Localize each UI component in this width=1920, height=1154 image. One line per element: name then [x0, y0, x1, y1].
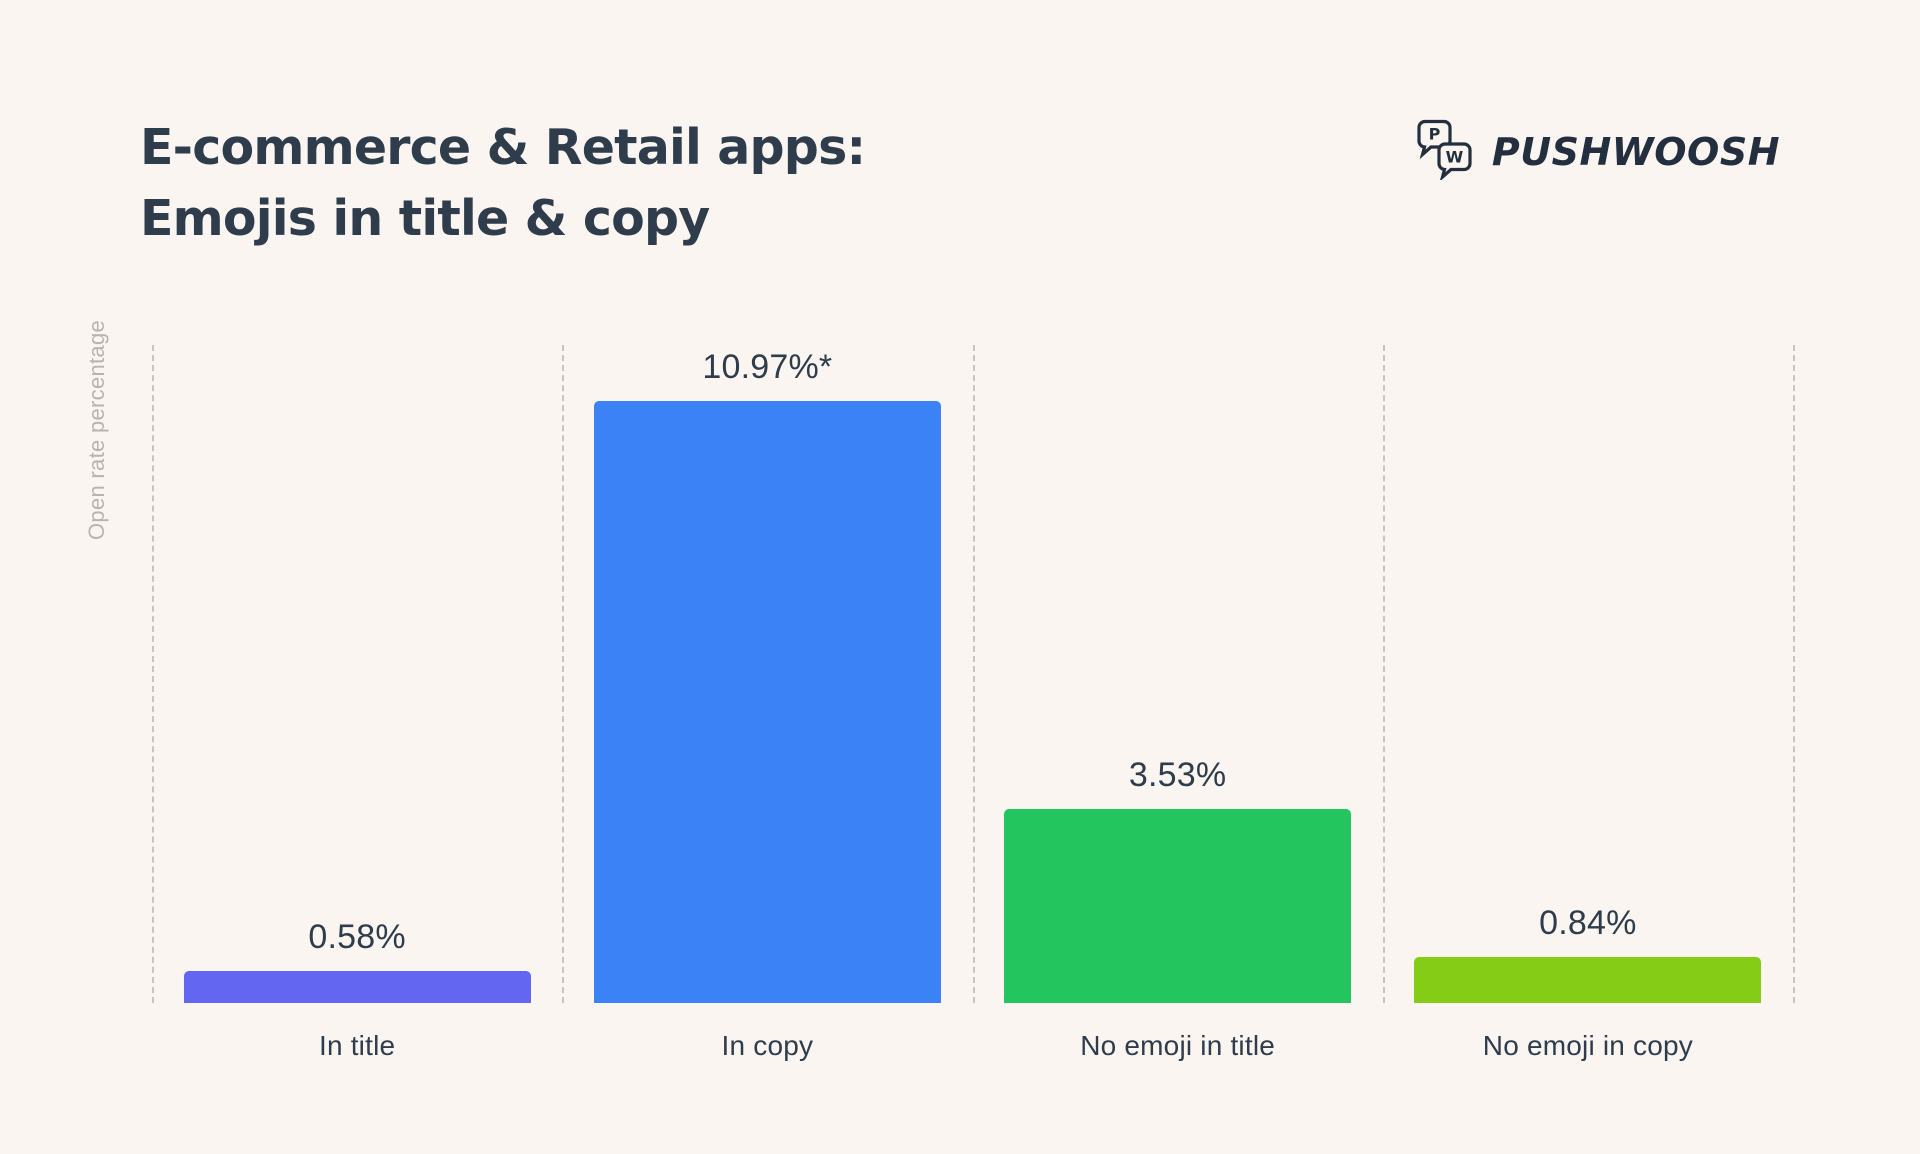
bar[interactable]: [1414, 957, 1761, 1003]
bar-chart: Open rate percentage 0.58%10.97%*3.53%0.…: [0, 0, 1920, 1154]
y-axis-label: Open rate percentage: [84, 500, 110, 540]
bar-value-label: 10.97%*: [594, 348, 941, 387]
chart-page: E-commerce & Retail apps: Emojis in titl…: [0, 0, 1920, 1154]
x-axis-label-1: In copy: [562, 1030, 972, 1062]
x-axis-label-3: No emoji in copy: [1383, 1030, 1793, 1062]
bar[interactable]: [594, 401, 941, 1003]
x-axis-label-2: No emoji in title: [973, 1030, 1383, 1062]
bar-group[interactable]: 0.84%: [1414, 345, 1761, 1003]
plot-area: 0.58%10.97%*3.53%0.84%: [152, 345, 1793, 1003]
bar-group[interactable]: 0.58%: [184, 345, 531, 1003]
bar-group[interactable]: 10.97%*: [594, 345, 941, 1003]
bar-value-label: 3.53%: [1004, 756, 1351, 795]
bar-value-label: 0.58%: [184, 918, 531, 957]
gridline-4: [1793, 345, 1795, 1003]
x-axis-label-0: In title: [152, 1030, 562, 1062]
bar[interactable]: [184, 971, 531, 1003]
bar[interactable]: [1004, 809, 1351, 1003]
bar-value-label: 0.84%: [1414, 904, 1761, 943]
bar-group[interactable]: 3.53%: [1004, 345, 1351, 1003]
